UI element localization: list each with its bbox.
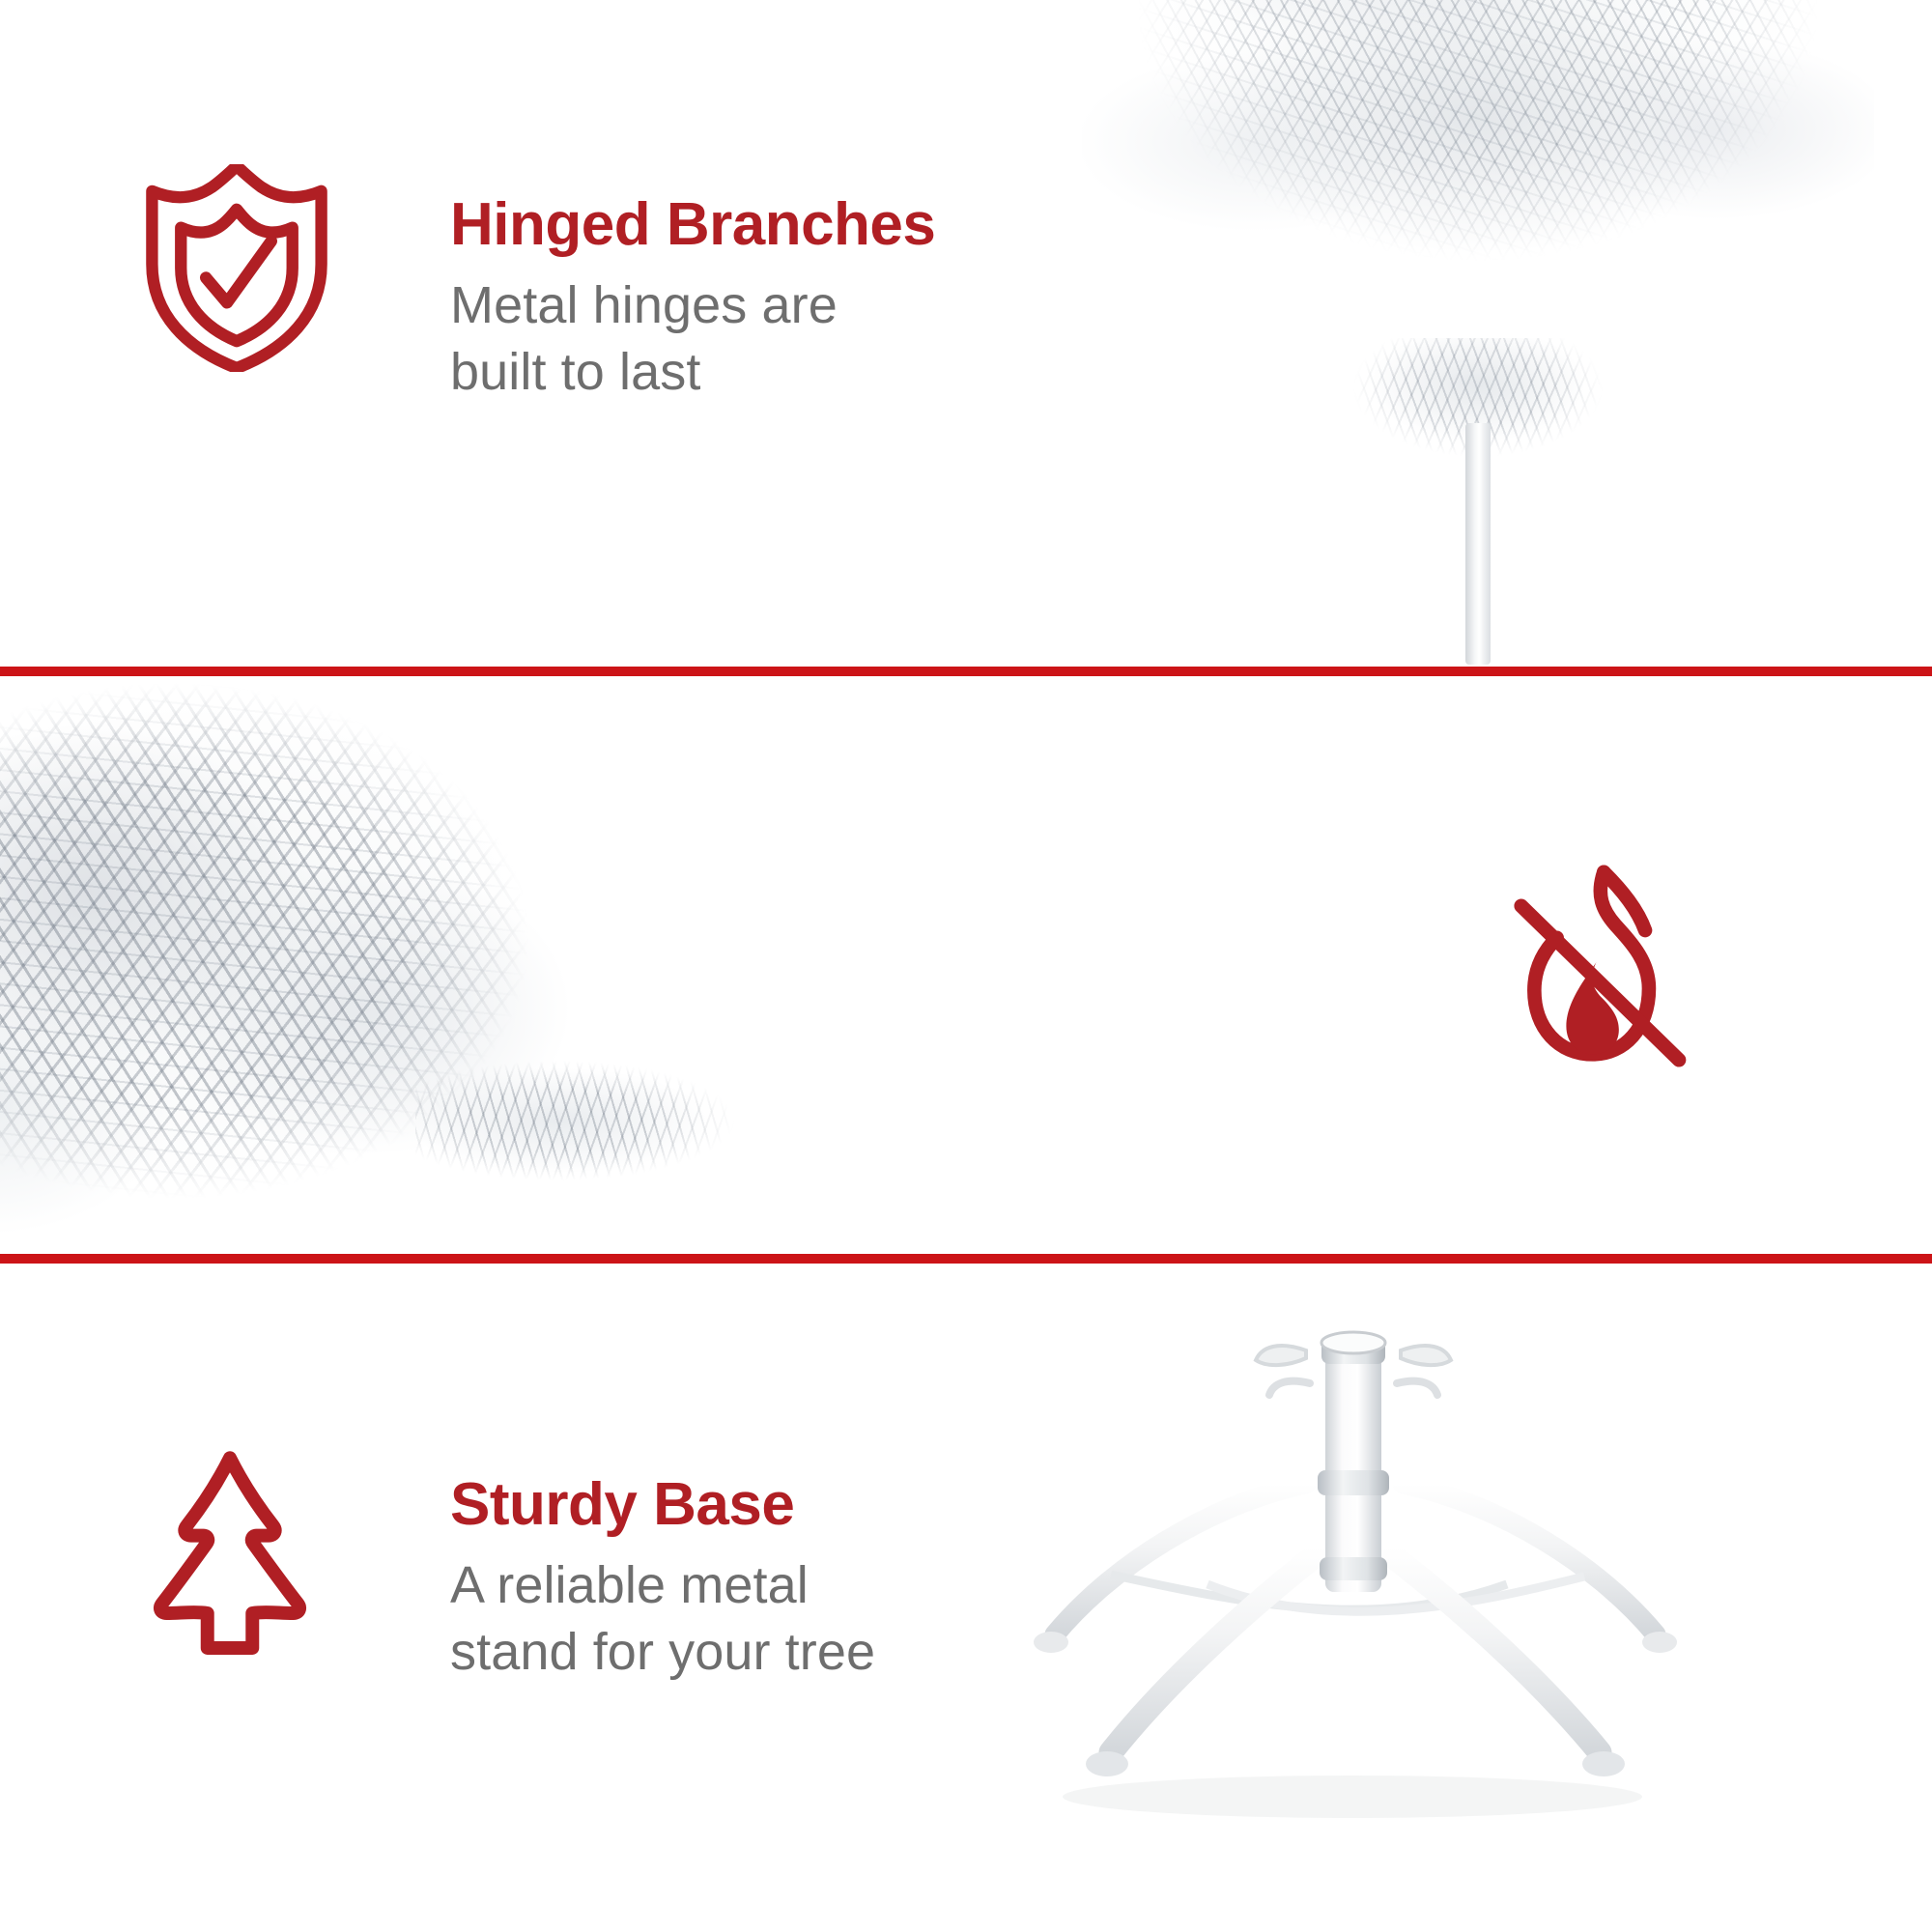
sturdy-base-title: Sturdy Base: [450, 1473, 1030, 1537]
feature-panel-hinged-branches: Hinged Branches Metal hinges are built t…: [0, 0, 1932, 667]
christmas-tree-outline-icon: [124, 1449, 336, 1671]
description-line-2: stand for your tree: [450, 1623, 875, 1681]
panel-divider-1: [0, 667, 1932, 676]
tree-needle-texture: [1082, 0, 1874, 377]
panel-divider-2: [0, 1254, 1932, 1264]
tree-center-pole: [1465, 423, 1491, 665]
no-flame-icon: [1497, 865, 1695, 1067]
shield-check-icon: [140, 164, 333, 372]
description-line-1: Metal hinges are: [450, 276, 838, 334]
feature-panel-sturdy-base: Sturdy Base A reliable metal stand for y…: [0, 1271, 1932, 1932]
tree-stand-illustration: [966, 1294, 1739, 1835]
description-line-2: built to last: [450, 343, 700, 401]
branch-lower-sprig: [415, 1024, 734, 1217]
tree-foliage-mass: [1082, 0, 1874, 377]
feature-panel-pvc-tips: PVC Tips Flame-retardant and easy to flu…: [0, 676, 1932, 1254]
white-branch-closeup-photo: [0, 676, 734, 1254]
hinged-branches-title: Hinged Branches: [450, 193, 991, 257]
metal-tree-stand-photo: [966, 1294, 1739, 1835]
feature-infographic: Hinged Branches Metal hinges are built t…: [0, 0, 1932, 1932]
white-christmas-tree-top-photo: [1024, 0, 1932, 667]
hinged-branches-text-block: Hinged Branches Metal hinges are built t…: [450, 193, 991, 406]
sturdy-base-text-block: Sturdy Base A reliable metal stand for y…: [450, 1473, 1030, 1686]
hinged-branches-description: Metal hinges are built to last: [450, 272, 991, 406]
description-line-1: A reliable metal: [450, 1556, 809, 1614]
sturdy-base-description: A reliable metal stand for your tree: [450, 1552, 1030, 1686]
